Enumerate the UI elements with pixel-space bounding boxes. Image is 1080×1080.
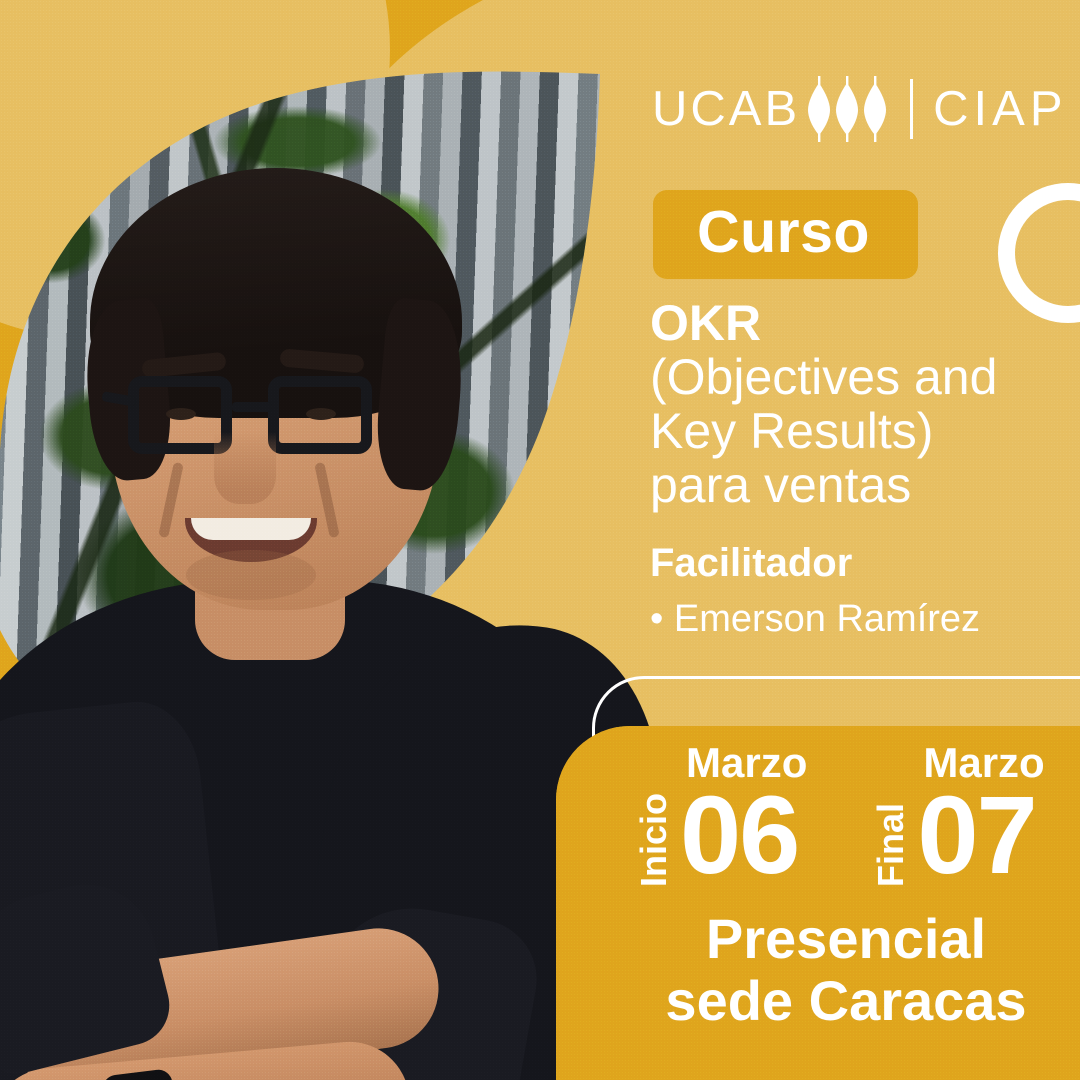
curso-badge-label: Curso <box>697 199 870 265</box>
facilitator-name: • Emerson Ramírez <box>650 598 980 641</box>
course-acronym: OKR <box>650 296 1070 350</box>
logo-ciap-text: CIAP <box>933 85 1067 134</box>
modality-line1: Presencial <box>596 908 1080 970</box>
nose <box>214 432 276 504</box>
logo-divider <box>910 79 913 139</box>
logo-ucab-text: UCAB <box>652 85 800 134</box>
date-col-start: Marzo 06 <box>680 742 807 887</box>
ucab-leaf-emblem-icon <box>806 76 888 142</box>
brand-logo: UCAB CIAP <box>652 78 1068 140</box>
modality-line2: sede Caracas <box>596 970 1080 1032</box>
date-day-start: 06 <box>680 784 798 887</box>
course-subtitle-line1: (Objectives and <box>650 349 997 405</box>
curso-badge: Curso <box>653 190 918 279</box>
teeth <box>191 518 311 540</box>
date-block-end: Final Marzo 07 <box>873 742 1044 887</box>
date-label-end: Final <box>873 797 909 887</box>
date-label-start: Inicio <box>636 787 672 887</box>
glasses-bridge <box>232 402 272 412</box>
modality-text: Presencial sede Caracas <box>596 908 1080 1031</box>
date-row: Inicio Marzo 06 Final Marzo 07 <box>636 742 1045 887</box>
date-block-start: Inicio Marzo 06 <box>636 742 807 887</box>
course-title: OKR (Objectives and Key Results) para ve… <box>650 296 1070 512</box>
course-poster: UCAB CIAP Curso OKR (Objec <box>0 0 1080 1080</box>
date-col-end: Marzo 07 <box>917 742 1044 887</box>
facilitator-heading: Facilitador <box>650 541 852 586</box>
chin <box>186 550 316 600</box>
course-subtitle-line3: para ventas <box>650 457 911 513</box>
glasses-lens-right <box>268 376 372 454</box>
course-subtitle-line2: Key Results) <box>650 403 933 459</box>
date-day-end: 07 <box>917 784 1035 887</box>
